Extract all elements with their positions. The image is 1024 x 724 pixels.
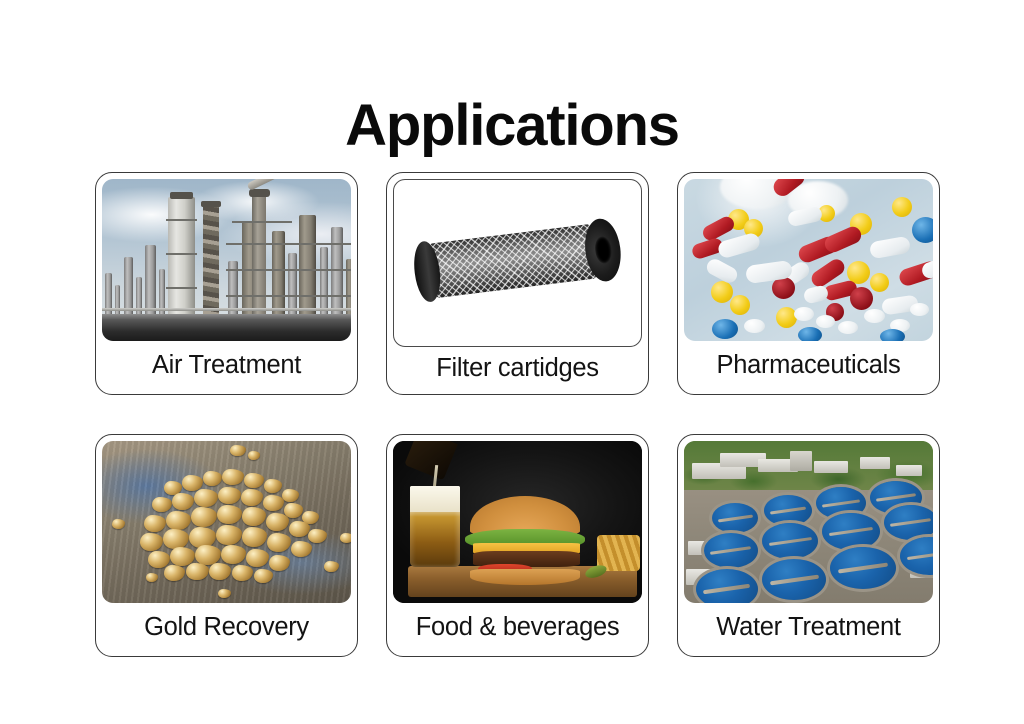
pills-illustration bbox=[684, 179, 933, 341]
burger-beer-illustration bbox=[393, 441, 642, 603]
applications-card-grid: Air Treatment Filter cartidges bbox=[95, 172, 941, 657]
card-gold-recovery[interactable]: Gold Recovery bbox=[95, 434, 358, 657]
card-label-gold-recovery: Gold Recovery bbox=[102, 603, 351, 656]
card-label-filter-cartidges: Filter cartidges bbox=[393, 347, 642, 394]
refinery-illustration bbox=[102, 179, 351, 341]
card-label-food-beverages: Food & beverages bbox=[393, 603, 642, 656]
gold-nuggets-illustration bbox=[102, 441, 351, 603]
card-label-air-treatment: Air Treatment bbox=[102, 341, 351, 394]
filter-cartridge-illustration bbox=[394, 180, 641, 346]
card-image-filter-cartidges bbox=[393, 179, 642, 347]
card-label-pharmaceuticals: Pharmaceuticals bbox=[684, 341, 933, 394]
card-image-gold-recovery bbox=[102, 441, 351, 603]
card-label-water-treatment: Water Treatment bbox=[684, 603, 933, 656]
card-image-air-treatment bbox=[102, 179, 351, 341]
wastewater-plant-illustration bbox=[684, 441, 933, 603]
page-root: Applications bbox=[0, 0, 1024, 724]
card-filter-cartidges[interactable]: Filter cartidges bbox=[386, 172, 649, 395]
card-image-water-treatment bbox=[684, 441, 933, 603]
page-title: Applications bbox=[0, 96, 1024, 157]
card-pharmaceuticals[interactable]: Pharmaceuticals bbox=[677, 172, 940, 395]
card-image-food-beverages bbox=[393, 441, 642, 603]
card-image-pharmaceuticals bbox=[684, 179, 933, 341]
card-food-beverages[interactable]: Food & beverages bbox=[386, 434, 649, 657]
card-water-treatment[interactable]: Water Treatment bbox=[677, 434, 940, 657]
card-air-treatment[interactable]: Air Treatment bbox=[95, 172, 358, 395]
